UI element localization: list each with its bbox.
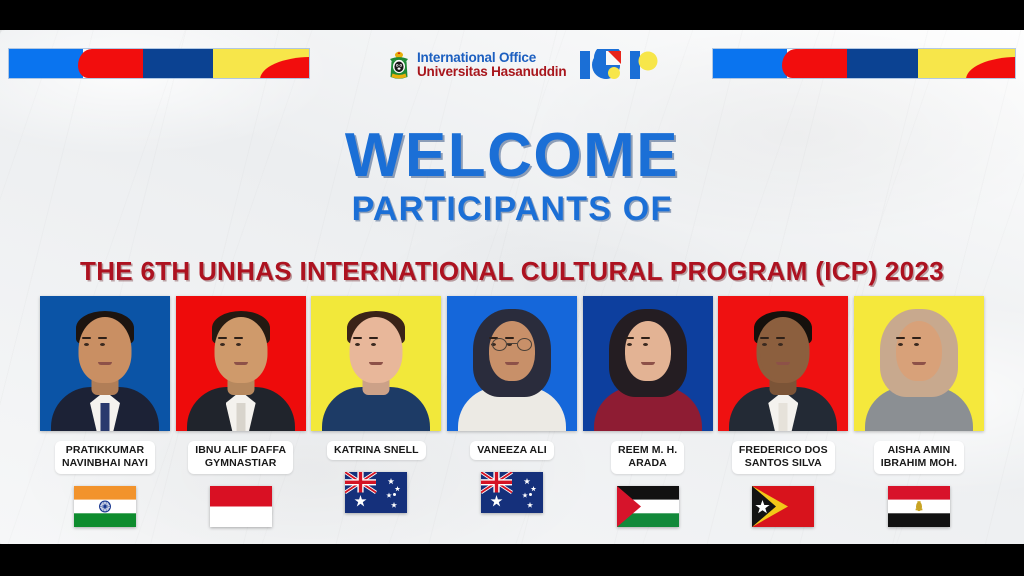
participant-name-label: KATRINA SNELL <box>327 441 426 460</box>
program-title: THE 6TH UNHAS INTERNATIONAL CULTURAL PRO… <box>0 256 1024 287</box>
portrait-brow-right <box>912 337 921 340</box>
flag-palestine-icon <box>617 486 679 527</box>
portrait-photo <box>854 296 984 431</box>
participant-name-label: PRATIKKUMARNAVINBHAI NAYI <box>55 441 155 474</box>
portrait-mouth <box>505 362 519 365</box>
participant-photo <box>40 296 170 431</box>
portrait-mouth <box>98 362 112 365</box>
strip-segment-blue <box>713 49 787 78</box>
unhas-logo-line1: International Office <box>417 51 566 65</box>
participant-name-line: VANEEZA ALI <box>477 444 547 457</box>
participant-card: VANEEZA ALI <box>447 296 577 526</box>
subtitle-participants-of: PARTICIPANTS OF <box>0 190 1024 229</box>
portrait-eye-right <box>100 343 105 346</box>
participant-photo <box>176 296 306 431</box>
participant-card: REEM M. H.ARADA <box>583 296 713 526</box>
unhas-international-office-logo: International Office Universitas Hasanud… <box>386 50 566 80</box>
portrait-glasses <box>492 338 532 351</box>
participant-photo <box>854 296 984 431</box>
portrait-photo <box>311 296 441 431</box>
participant-name-line: NAVINBHAI NAYI <box>62 457 148 470</box>
page-title-welcome: WELCOME <box>0 120 1024 191</box>
portrait-brow-left <box>625 337 634 340</box>
portrait-brow-left <box>760 337 769 340</box>
strip-segment-navy <box>847 49 919 78</box>
flag-timor-leste-icon <box>752 486 814 527</box>
strip-segment-red <box>782 49 848 78</box>
portrait-face <box>760 321 806 381</box>
participant-name-label: IBNU ALIF DAFFAGYMNASTIAR <box>188 441 293 474</box>
participant-photo <box>447 296 577 431</box>
portrait-eye-left <box>627 343 632 346</box>
portrait-brow-left <box>218 337 227 340</box>
portrait-mouth <box>641 362 655 365</box>
participant-card: AISHA AMINIBRAHIM MOH. <box>854 296 984 526</box>
portrait-face <box>82 321 128 381</box>
portrait-mouth <box>912 362 926 365</box>
poster-canvas: International Office Universitas Hasanud… <box>0 30 1024 544</box>
unhas-logo-line2: Universitas Hasanuddin <box>417 65 566 79</box>
portrait-photo <box>447 296 577 431</box>
flag-india-icon <box>74 486 136 527</box>
participant-name-line: KATRINA SNELL <box>334 444 419 457</box>
flag-australia-icon <box>481 472 543 513</box>
portrait-brow-left <box>896 337 905 340</box>
portrait-tie <box>236 403 245 431</box>
participant-card: IBNU ALIF DAFFAGYMNASTIAR <box>176 296 306 526</box>
participant-name-line: ARADA <box>618 457 677 470</box>
portrait-photo <box>718 296 848 431</box>
participant-photo <box>311 296 441 431</box>
unhas-logo-text: International Office Universitas Hasanud… <box>417 51 566 80</box>
portrait-photo <box>583 296 713 431</box>
portrait-eye-right <box>914 343 919 346</box>
participant-name-label: VANEEZA ALI <box>470 441 554 460</box>
participant-name-line: REEM M. H. <box>618 444 677 457</box>
participant-card: FREDERICO DOSSANTOS SILVA <box>718 296 848 526</box>
portrait-mouth <box>776 362 790 365</box>
portrait-tie <box>101 403 110 431</box>
participant-card: KATRINA SNELL <box>311 296 441 526</box>
strip-segment-blue <box>9 49 83 78</box>
portrait-brow-right <box>98 337 107 340</box>
participant-name-line: FREDERICO DOS <box>739 444 828 457</box>
portrait-face <box>489 321 535 381</box>
participants-row: PRATIKKUMARNAVINBHAI NAYI IBNU ALIF DAFF… <box>40 296 984 526</box>
portrait-brow-right <box>369 337 378 340</box>
letterbox-bottom <box>0 544 1024 576</box>
portrait-eye-right <box>236 343 241 346</box>
portrait-mouth <box>234 362 248 365</box>
color-strip-decoration-right <box>712 48 1016 79</box>
portrait-brow-left <box>353 337 362 340</box>
participant-photo <box>583 296 713 431</box>
participant-name-line: IBRAHIM MOH. <box>881 457 957 470</box>
portrait-eye-left <box>220 343 225 346</box>
portrait-eye-left <box>84 343 89 346</box>
flag-egypt-icon <box>888 486 950 527</box>
portrait-brow-right <box>234 337 243 340</box>
portrait-face <box>896 321 942 381</box>
participant-name-line: SANTOS SILVA <box>739 457 828 470</box>
participant-name-line: AISHA AMIN <box>881 444 957 457</box>
strip-segment-red <box>78 49 144 78</box>
participant-name-line: GYMNASTIAR <box>195 457 286 470</box>
flag-indonesia-icon <box>210 486 272 527</box>
portrait-tie <box>779 403 788 431</box>
portrait-face <box>353 321 399 381</box>
portrait-brow-right <box>776 337 785 340</box>
portrait-face <box>218 321 264 381</box>
participant-name-line: PRATIKKUMAR <box>62 444 148 457</box>
poster-slide: International Office Universitas Hasanud… <box>0 0 1024 576</box>
participant-name-line: IBNU ALIF DAFFA <box>195 444 286 457</box>
strip-segment-navy <box>143 49 215 78</box>
participant-card: PRATIKKUMARNAVINBHAI NAYI <box>40 296 170 526</box>
participant-name-label: AISHA AMINIBRAHIM MOH. <box>874 441 964 474</box>
portrait-face <box>625 321 671 381</box>
portrait-eye-right <box>643 343 648 346</box>
portrait-photo <box>176 296 306 431</box>
participant-name-label: REEM M. H.ARADA <box>611 441 684 474</box>
participant-name-label: FREDERICO DOSSANTOS SILVA <box>732 441 835 474</box>
icp-logo-icon <box>580 49 658 81</box>
participant-photo <box>718 296 848 431</box>
flag-australia-icon <box>345 472 407 513</box>
portrait-eye-left <box>898 343 903 346</box>
portrait-brow-left <box>82 337 91 340</box>
portrait-mouth <box>369 362 383 365</box>
unhas-crest-icon <box>386 50 412 80</box>
portrait-brow-right <box>641 337 650 340</box>
letterbox-top <box>0 0 1024 30</box>
color-strip-decoration-left <box>8 48 310 79</box>
portrait-photo <box>40 296 170 431</box>
